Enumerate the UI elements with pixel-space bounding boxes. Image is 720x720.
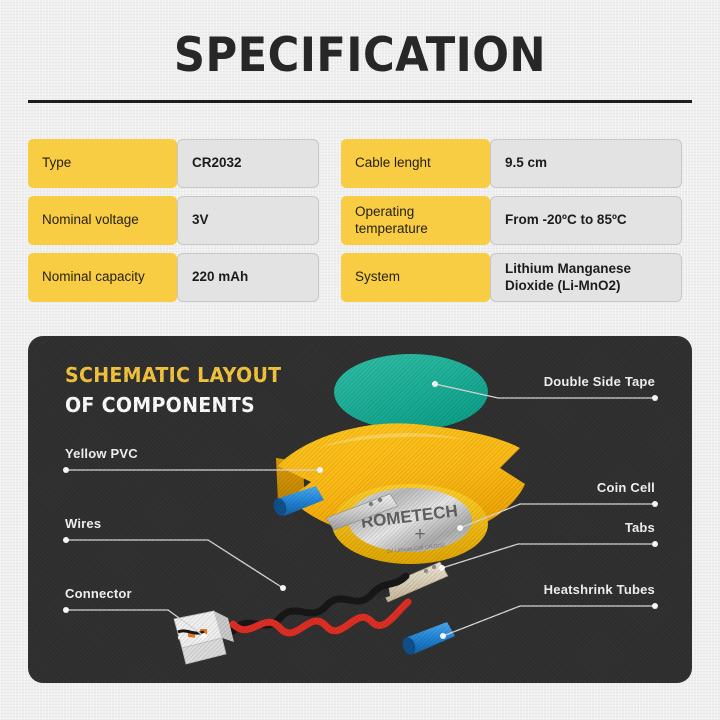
column-gap: [319, 196, 341, 245]
spec-label-system: System: [341, 253, 490, 302]
leader-dot: [457, 525, 463, 531]
spec-label-operating-temp: Operating temperature: [341, 196, 490, 245]
leader-dot: [439, 565, 445, 571]
spec-label-nominal-voltage: Nominal voltage: [28, 196, 177, 245]
spec-value-nominal-voltage: 3V: [177, 196, 319, 245]
spec-value-nominal-capacity: 220 mAh: [177, 253, 319, 302]
leader-dot: [63, 607, 69, 613]
title-divider: [28, 100, 692, 103]
callout-label-heatshrink-tubes: Heatshrink Tubes: [544, 582, 655, 597]
callout-label-yellow-pvc: Yellow PVC: [65, 446, 138, 461]
spec-value-cable-length: 9.5 cm: [490, 139, 682, 188]
column-gap: [319, 139, 341, 188]
leader-dot: [440, 633, 446, 639]
leader-tabs: [442, 544, 655, 568]
spec-value-type: CR2032: [177, 139, 319, 188]
schematic-title: SCHEMATIC LAYOUT OF COMPONENTS: [65, 363, 281, 417]
leader-connector: [66, 610, 204, 636]
specification-infographic: SPECIFICATION Type CR2032 Cable lenght 9…: [0, 0, 720, 720]
spec-label-cable-length: Cable lenght: [341, 139, 490, 188]
schematic-title-line2: OF COMPONENTS: [65, 393, 281, 417]
spec-value-operating-temp: From -20ºC to 85ºC: [490, 196, 682, 245]
leader-dot: [652, 541, 658, 547]
leader-dot: [652, 501, 658, 507]
leader-dot: [63, 537, 69, 543]
leader-dot: [280, 585, 286, 591]
specification-table: Type CR2032 Cable lenght 9.5 cm Nominal …: [28, 139, 692, 302]
callout-label-tabs: Tabs: [625, 520, 655, 535]
callout-label-coin-cell: Coin Cell: [597, 480, 655, 495]
leader-dot: [652, 603, 658, 609]
leader-dot: [432, 381, 438, 387]
schematic-title-line1: SCHEMATIC LAYOUT: [65, 363, 281, 387]
leader-dot: [652, 395, 658, 401]
spec-label-nominal-capacity: Nominal capacity: [28, 253, 177, 302]
spec-label-type: Type: [28, 139, 177, 188]
leader-dot: [63, 467, 69, 473]
schematic-panel: SCHEMATIC LAYOUT OF COMPONENTS: [28, 336, 692, 683]
leader-dot: [201, 633, 207, 639]
column-gap: [319, 253, 341, 302]
leader-wires: [66, 540, 283, 588]
callout-label-double-side-tape: Double Side Tape: [544, 374, 655, 389]
callout-label-connector: Connector: [65, 586, 132, 601]
callout-label-wires: Wires: [65, 516, 101, 531]
page-title: SPECIFICATION: [29, 28, 691, 83]
spec-value-system: Lithium Manganese Dioxide (Li-MnO2): [490, 253, 682, 302]
leader-heatshrink-tubes: [443, 606, 655, 636]
leader-dot: [317, 467, 323, 473]
